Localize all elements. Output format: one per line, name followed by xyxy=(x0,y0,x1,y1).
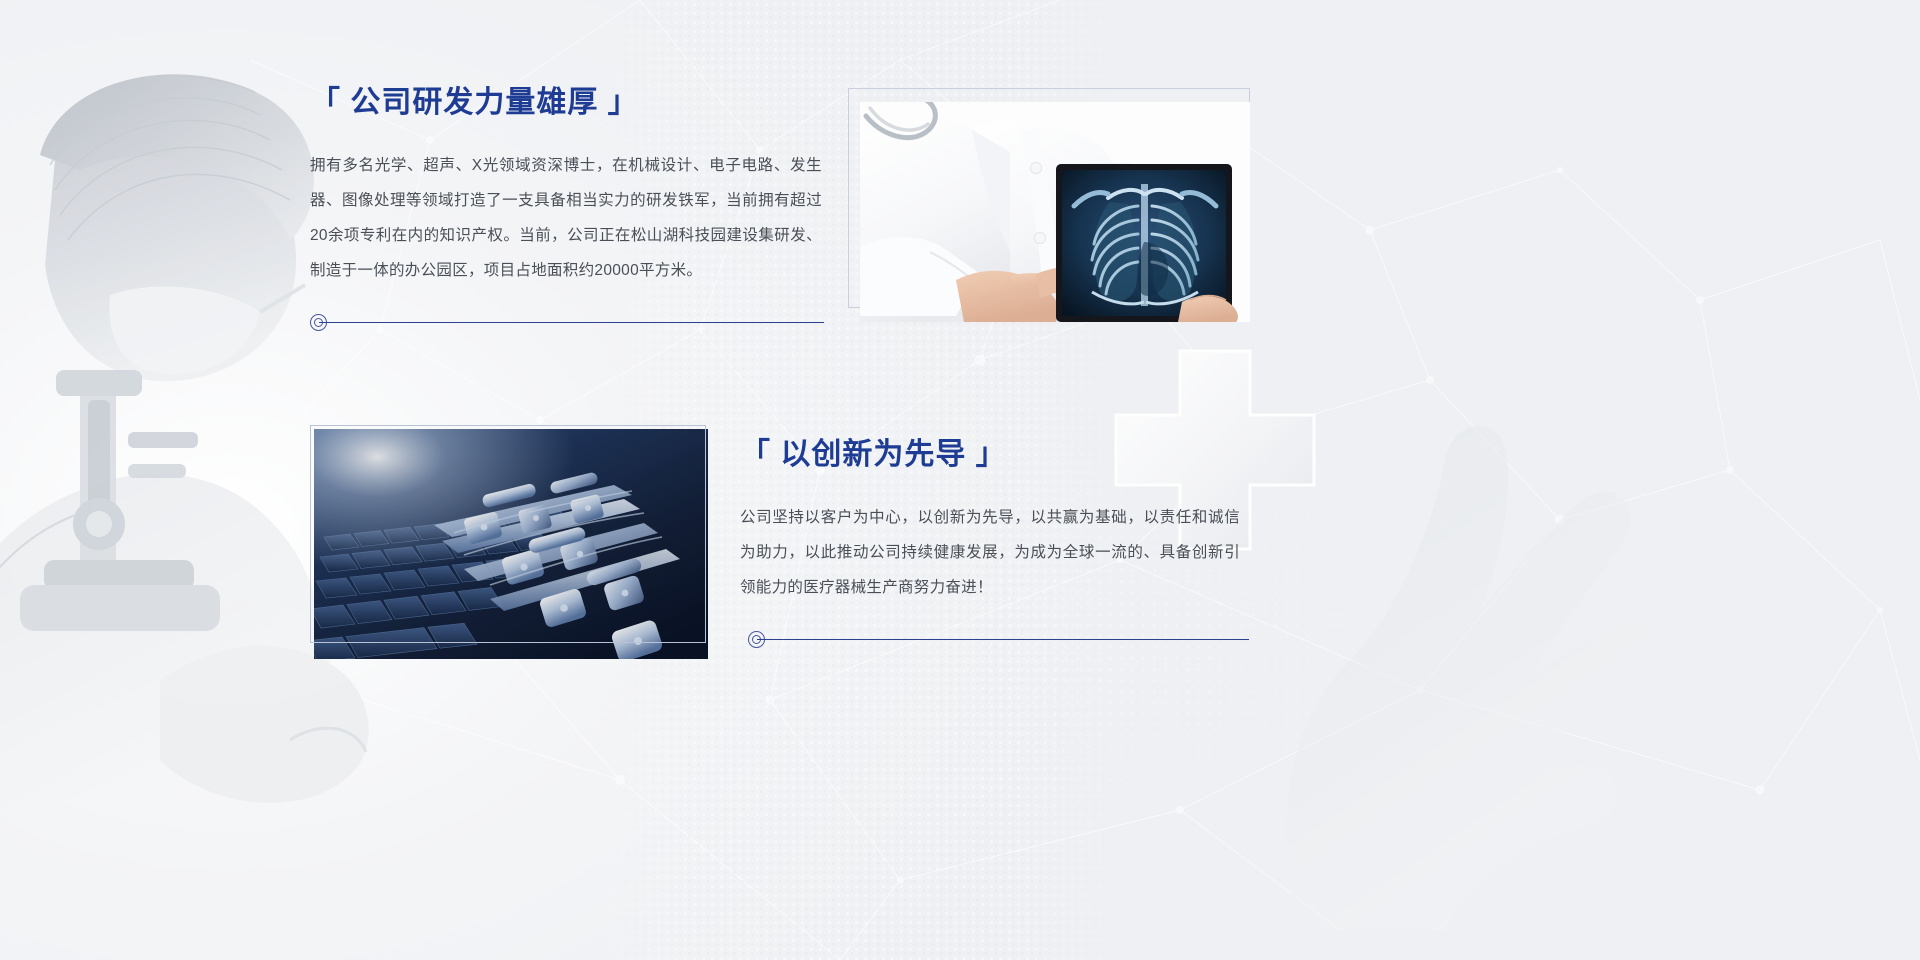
doctor-xray-tablet-photo xyxy=(860,102,1250,322)
divider-line-2 xyxy=(757,639,1249,640)
section-rd-strength-heading: 「 公司研发力量雄厚 」 xyxy=(310,88,830,118)
section-rd-strength-paragraph: 拥有多名光学、超声、X光领域资深博士，在机械设计、电子电路、发生器、图像处理等领… xyxy=(310,148,822,288)
section-innovation-led: 「 以创新为先导 」 公司坚持以客户为中心，以创新为先导，以共赢为基础，以责任和… xyxy=(740,440,1250,649)
robotic-arm-keyboard-photo-frame xyxy=(310,425,708,659)
photo-frame-inner-line xyxy=(310,425,706,643)
section-innovation-led-paragraph: 公司坚持以客户为中心，以创新为先导，以共赢为基础，以责任和诚信为助力，以此推动公… xyxy=(740,500,1240,605)
section-innovation-led-heading: 「 以创新为先导 」 xyxy=(740,440,1250,470)
section-rd-strength-divider xyxy=(310,314,830,332)
section-rd-strength: 「 公司研发力量雄厚 」 拥有多名光学、超声、X光领域资深博士，在机械设计、电子… xyxy=(310,88,830,332)
background-hand-watermark xyxy=(1230,390,1650,930)
section-innovation-led-divider xyxy=(748,631,1250,649)
doctor-xray-tablet-photo-frame xyxy=(848,88,1250,322)
divider-line xyxy=(319,322,824,323)
